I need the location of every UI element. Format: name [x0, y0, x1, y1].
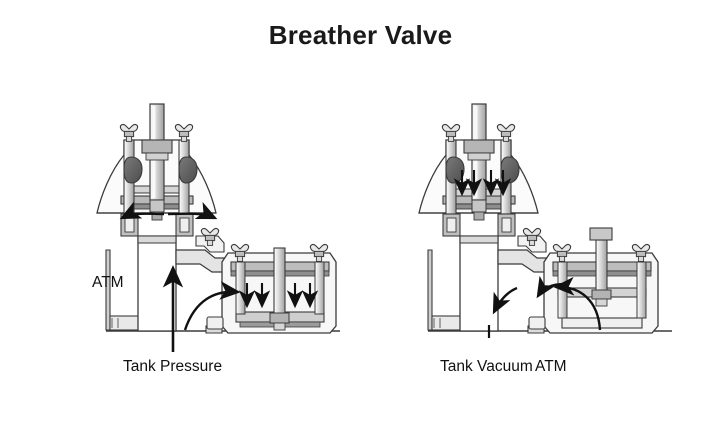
pallet-assembly-left-b	[175, 125, 197, 236]
label-tank-pressure: Tank Pressure	[123, 358, 222, 375]
valve-riser-left	[138, 236, 176, 331]
valve-riser-right	[460, 236, 498, 331]
chamber-housing-left	[206, 245, 336, 333]
pressure-relief-panel: ATM Tank Pressure	[92, 104, 340, 375]
chamber-housing-right	[528, 228, 658, 333]
weight-pallet	[179, 157, 197, 183]
wing-nut-icon	[175, 125, 192, 142]
label-atm-right: ATM	[535, 358, 567, 375]
wing-nut-icon	[442, 125, 459, 142]
weight-pallet	[124, 157, 142, 183]
wing-nut-icon	[497, 125, 514, 142]
wing-nut-icon	[120, 125, 137, 142]
pallet-assembly-right-b	[497, 125, 519, 236]
label-atm-left: ATM	[92, 274, 124, 291]
vacuum-relief-panel: Tank Vacuum ATM	[419, 104, 672, 375]
breather-valve-figure: ATM Tank Pressure	[0, 0, 721, 423]
label-tank-vacuum: Tank Vacuum	[440, 358, 533, 375]
